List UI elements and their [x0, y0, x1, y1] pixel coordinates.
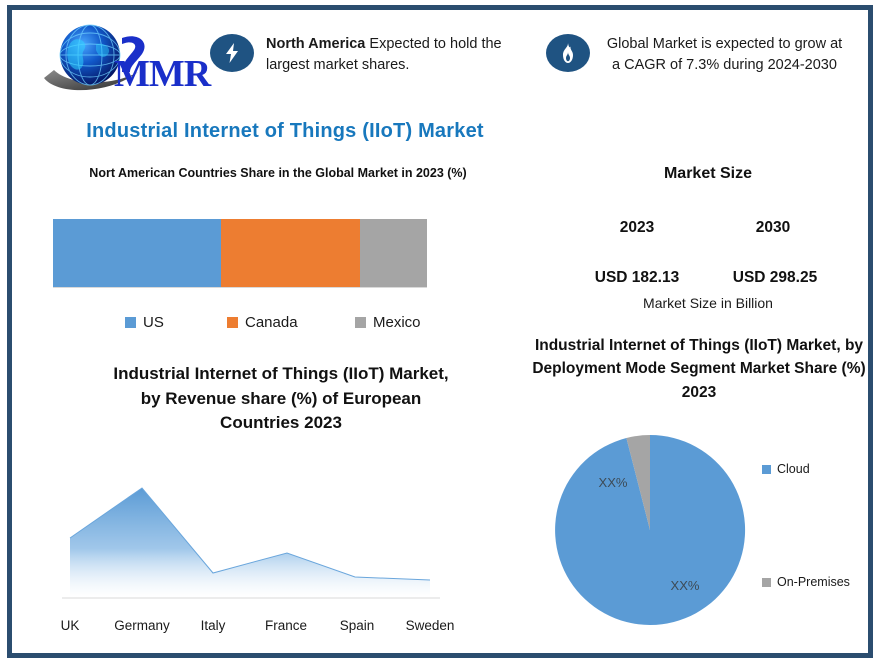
pie-chart-legend: Cloud On-Premises	[762, 462, 882, 602]
pie-chart-title: Industrial Internet of Things (IIoT) Mar…	[528, 334, 870, 404]
legend-label-mexico: Mexico	[373, 314, 421, 331]
legend-swatch-us	[125, 317, 136, 328]
area-label-spain: Spain	[340, 618, 375, 633]
market-size-value-2030: USD 298.25	[705, 269, 845, 287]
area-label-germany: Germany	[114, 618, 170, 633]
callout-global-cagr: Global Market is expected to grow at a C…	[546, 34, 866, 76]
legend-item-cloud: Cloud	[762, 462, 810, 476]
area-series-polygon	[70, 488, 430, 598]
stacked-bar-axis-line	[53, 287, 427, 288]
area-label-sweden: Sweden	[406, 618, 455, 633]
market-size-value-2023: USD 182.13	[567, 269, 707, 287]
market-size-year-2023: 2023	[582, 219, 692, 237]
area-chart-title: Industrial Internet of Things (IIoT) Mar…	[105, 362, 457, 436]
legend-item-us: US	[125, 314, 164, 331]
area-label-uk: UK	[61, 618, 80, 633]
legend-swatch-mexico	[355, 317, 366, 328]
callout-north-america-text: North America Expected to hold the large…	[254, 34, 516, 76]
legend-swatch-cloud	[762, 465, 771, 474]
bar-segment-us	[53, 219, 221, 287]
legend-swatch-canada	[227, 317, 238, 328]
legend-item-canada: Canada	[227, 314, 298, 331]
legend-label-us: US	[143, 314, 164, 331]
infographic-canvas: MMR North America Expected to hold the l…	[0, 0, 886, 669]
area-label-france: France	[265, 618, 307, 633]
market-size-unit: Market Size in Billion	[608, 295, 808, 311]
callout-north-america: North America Expected to hold the large…	[210, 34, 530, 76]
pie-data-label-cloud: XX%	[671, 578, 700, 593]
legend-item-mexico: Mexico	[355, 314, 421, 331]
market-size-year-2030: 2030	[718, 219, 828, 237]
area-chart-x-labels: UK Germany Italy France Spain Sweden	[40, 618, 480, 640]
lightning-bolt-icon	[210, 34, 254, 72]
bar-segment-canada	[221, 219, 359, 287]
flame-icon	[546, 34, 590, 72]
stacked-bar-title: Nort American Countries Share in the Glo…	[88, 165, 468, 182]
logo-text: MMR	[114, 53, 212, 95]
market-size-heading: Market Size	[608, 165, 808, 183]
area-label-italy: Italy	[201, 618, 226, 633]
pie-data-label-on-premises: XX%	[599, 475, 628, 490]
legend-item-on-premises: On-Premises	[762, 575, 850, 589]
globe-logo: MMR	[38, 20, 213, 100]
legend-swatch-on-premises	[762, 578, 771, 587]
area-chart	[40, 460, 480, 610]
legend-label-cloud: Cloud	[777, 462, 810, 476]
stacked-bar-chart	[53, 219, 427, 287]
pie-chart: XX% XX%	[545, 425, 755, 635]
page-title: Industrial Internet of Things (IIoT) Mar…	[60, 120, 510, 143]
legend-label-canada: Canada	[245, 314, 298, 331]
stacked-bar-legend: US Canada Mexico	[53, 314, 433, 334]
callout-global-cagr-text: Global Market is expected to grow at a C…	[590, 34, 847, 76]
pie-slice-cloud	[555, 435, 745, 625]
bar-segment-mexico	[360, 219, 427, 287]
legend-label-on-premises: On-Premises	[777, 575, 850, 589]
callout-north-america-bold: North America	[266, 36, 365, 52]
